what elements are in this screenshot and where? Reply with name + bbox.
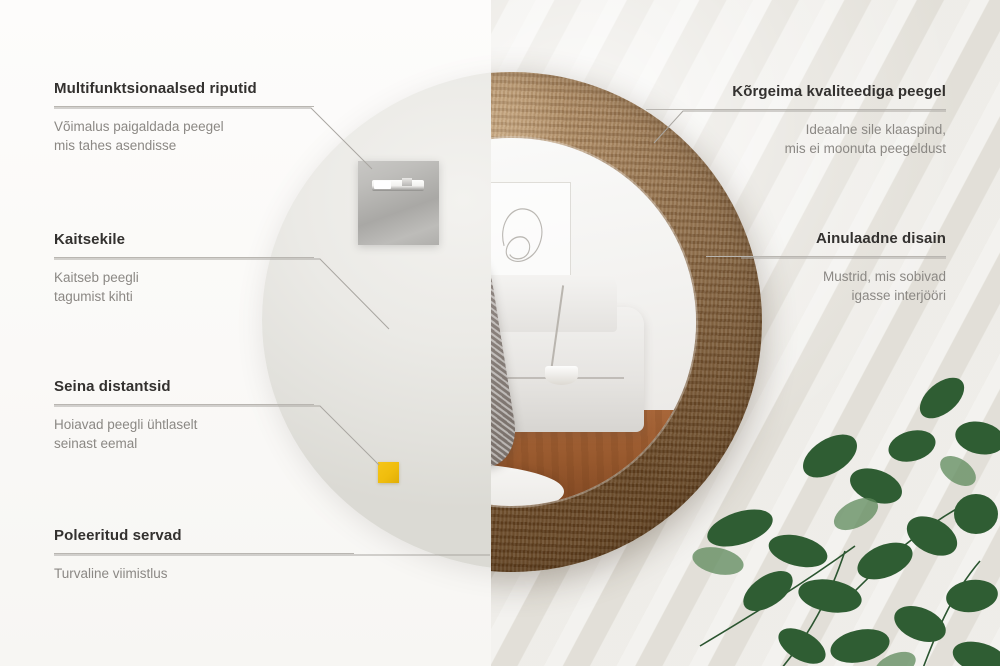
callout-title: Kaitsekile <box>54 231 314 248</box>
hanger-keyhole-slot <box>372 180 424 191</box>
hanger-mounting-plate <box>358 161 439 245</box>
wall-spacer-chip <box>378 462 399 483</box>
callout-wall-spacers: Seina distantsid Hoiavad peegli ühtlasel… <box>54 378 314 453</box>
foliage-decoration <box>680 346 1000 666</box>
callout-title: Seina distantsid <box>54 378 314 395</box>
callout-protective-film: Kaitsekile Kaitseb peegli tagumist kihti <box>54 231 314 306</box>
callout-rule <box>646 109 946 110</box>
hanger-notch <box>402 178 412 186</box>
callout-title: Kõrgeima kvaliteediga peegel <box>646 83 946 100</box>
callout-polished-edges: Poleeritud servad Turvaline viimistlus <box>54 527 354 584</box>
callout-body: Kaitseb peegli tagumist kihti <box>54 269 314 306</box>
infographic-stage: Multifunktsionaalsed riputid Võimalus pa… <box>0 0 1000 666</box>
reflection-lamp-shade <box>545 366 578 384</box>
callout-rule <box>54 257 314 258</box>
callout-body: Ideaalne sile klaaspind, mis ei moonuta … <box>646 121 946 158</box>
callout-highest-quality-mirror: Kõrgeima kvaliteediga peegel Ideaalne si… <box>646 83 946 158</box>
callout-unique-design: Ainulaadne disain Mustrid, mis sobivad i… <box>706 230 946 305</box>
callout-title: Ainulaadne disain <box>706 230 946 247</box>
callout-body: Hoiavad peegli ühtlaselt seinast eemal <box>54 416 314 453</box>
callout-rule <box>54 106 314 107</box>
callout-body: Võimalus paigaldada peegel mis tahes ase… <box>54 118 314 155</box>
callout-rule <box>54 553 354 554</box>
callout-rule <box>706 256 946 257</box>
callout-title: Poleeritud servad <box>54 527 354 544</box>
callout-rule <box>54 404 314 405</box>
sofa-backrest <box>491 275 617 333</box>
callout-body: Turvaline viimistlus <box>54 565 354 584</box>
callout-title: Multifunktsionaalsed riputid <box>54 80 314 97</box>
callout-body: Mustrid, mis sobivad igasse interjööri <box>706 268 946 305</box>
mirror-glass-surface <box>491 138 696 506</box>
callout-multifunctional-hangers: Multifunktsionaalsed riputid Võimalus pa… <box>54 80 314 155</box>
